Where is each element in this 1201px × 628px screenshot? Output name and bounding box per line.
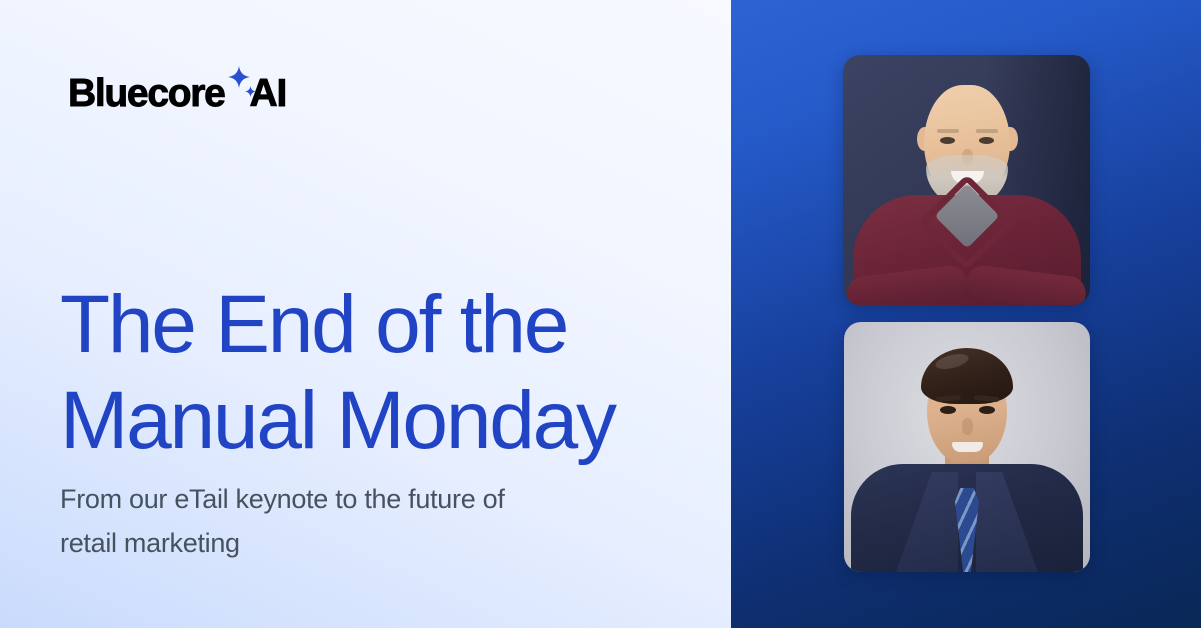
eye-left bbox=[940, 406, 956, 414]
content-panel: Bluecore AI The End of the Manual Monday… bbox=[0, 0, 731, 628]
speaker-photo-bottom bbox=[844, 322, 1090, 572]
speaker-portrait-illustration bbox=[843, 55, 1090, 305]
speaker-photo-top bbox=[843, 55, 1090, 305]
bluecore-ai-logo[interactable]: Bluecore AI bbox=[68, 74, 286, 118]
page-title: The End of the Manual Monday bbox=[60, 277, 700, 469]
sparkle-icon bbox=[222, 74, 256, 118]
eyebrow-left bbox=[937, 129, 959, 133]
hair bbox=[921, 348, 1013, 404]
eye-right bbox=[979, 406, 995, 414]
eyebrow-right bbox=[976, 129, 998, 133]
mouth bbox=[952, 442, 983, 452]
promo-banner: Bluecore AI The End of the Manual Monday… bbox=[0, 0, 1201, 628]
eye-right bbox=[979, 137, 994, 144]
eye-left bbox=[940, 137, 955, 144]
nose bbox=[962, 418, 973, 435]
logo-wordmark: Bluecore bbox=[68, 74, 225, 113]
page-subtitle: From our eTail keynote to the future of … bbox=[60, 477, 620, 565]
speaker-portrait-illustration bbox=[844, 322, 1090, 572]
speakers-panel bbox=[731, 0, 1201, 628]
